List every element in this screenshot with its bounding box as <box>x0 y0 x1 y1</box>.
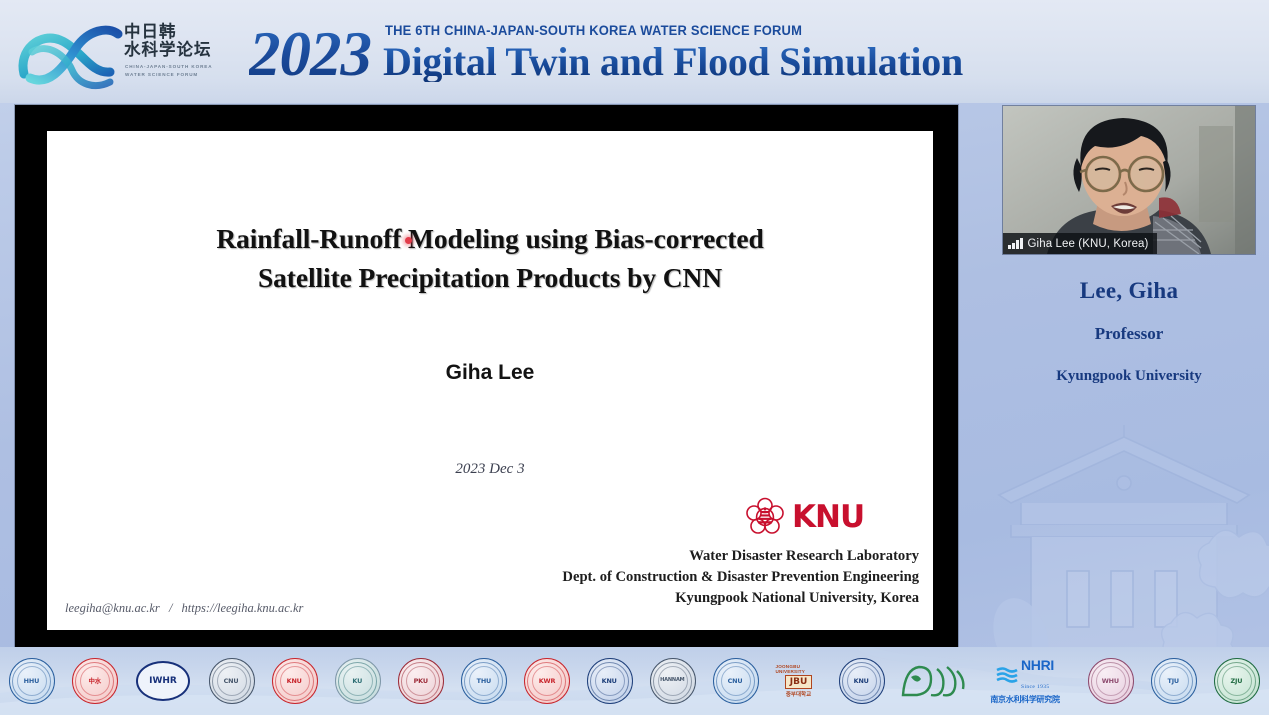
sponsor-logo[interactable]: CNU <box>200 647 263 715</box>
banner-title: Digital Twin and Flood Simulation <box>383 42 963 82</box>
sponsor-logo[interactable]: KNU <box>578 647 641 715</box>
nhri-chinese: 南京水利科学研究院 <box>990 694 1059 705</box>
slide-title: Rainfall-Runoff Modeling using Bias-corr… <box>47 219 933 297</box>
banner-year: 2023 <box>249 18 371 91</box>
video-name-label: Giha Lee (KNU, Korea) <box>1003 233 1157 254</box>
sponsor-logo[interactable]: ZJU <box>1205 647 1268 715</box>
sponsor-logo[interactable]: KNU <box>830 647 893 715</box>
nhri-text: NHRI <box>1021 657 1054 673</box>
green-river-logo-icon <box>897 661 967 701</box>
video-label-text: Giha Lee (KNU, Korea) <box>1028 238 1149 250</box>
knu-flower-emblem-icon <box>744 496 786 538</box>
contact-url: https://leegiha.knu.ac.kr <box>182 601 304 615</box>
sponsor-logo[interactable]: HANNAM <box>641 647 704 715</box>
sponsor-logo[interactable]: TJU <box>1142 647 1205 715</box>
sponsor-logo-jbu[interactable]: JOONGBU UNIVERSITY JBU 중부대학교 <box>767 647 830 715</box>
temple-watermark <box>959 375 1269 675</box>
slide-date: 2023 Dec 3 <box>47 461 933 478</box>
slide-author: Giha Lee <box>47 361 933 385</box>
nhri-since: Since 1935 <box>1021 684 1050 690</box>
forum-logo-english: CHINA-JAPAN-SOUTH KOREA WATER SCIENCE FO… <box>125 63 212 78</box>
sponsor-logo[interactable]: KU <box>326 647 389 715</box>
sponsor-logo-iwhr[interactable]: IWHR <box>126 647 200 715</box>
sponsor-logo[interactable]: CNU <box>704 647 767 715</box>
sponsor-logo[interactable]: HHU <box>0 647 63 715</box>
contact-separator: / <box>163 601 178 615</box>
sponsor-logo-strip: HHU 中水 IWHR CNU KNU KU PKU THU KWR KNU H… <box>0 647 1269 715</box>
slide-contact: leegiha@knu.ac.kr / https://leegiha.knu.… <box>65 601 303 616</box>
slide-affiliation: Water Disaster Research Laboratory Dept.… <box>562 546 919 609</box>
page-background: 中日韩 水科学论坛 CHINA-JAPAN-SOUTH KOREA WATER … <box>0 0 1269 715</box>
jbu-wordmark: JOONGBU UNIVERSITY JBU 중부대학교 <box>776 659 822 703</box>
sponsor-logo[interactable]: PKU <box>389 647 452 715</box>
knu-logo: KNU <box>744 496 879 538</box>
participant-video-tile[interactable]: Giha Lee (KNU, Korea) <box>1003 106 1255 254</box>
sponsor-logo[interactable]: KWR <box>515 647 578 715</box>
sponsor-row: HHU 中水 IWHR CNU KNU KU PKU THU KWR KNU H… <box>0 647 1269 715</box>
signal-bars-icon <box>1008 238 1023 249</box>
speaker-role: Professor <box>1003 324 1255 344</box>
banner-subtitle: THE 6TH CHINA-JAPAN-SOUTH KOREA WATER SC… <box>385 23 802 38</box>
sponsor-logo[interactable]: 中水 <box>63 647 126 715</box>
iwhr-wordmark: IWHR <box>136 661 190 701</box>
event-banner: 中日韩 水科学论坛 CHINA-JAPAN-SOUTH KOREA WATER … <box>0 0 1269 103</box>
nhri-wave-icon <box>996 667 1018 683</box>
sponsor-logo[interactable]: WHU <box>1079 647 1142 715</box>
laser-pointer-dot <box>405 237 412 244</box>
sponsor-logo[interactable]: KNU <box>263 647 326 715</box>
sponsor-logo-nhri[interactable]: NHRI Since 1935 南京水利科学研究院 <box>971 647 1079 715</box>
shared-screen[interactable]: Rainfall-Runoff Modeling using Bias-corr… <box>15 105 958 656</box>
knu-wordmark: KNU <box>792 502 864 533</box>
contact-email: leegiha@knu.ac.kr <box>65 601 160 615</box>
sponsor-logo-green[interactable] <box>893 647 971 715</box>
sponsor-logo[interactable]: THU <box>452 647 515 715</box>
speaker-organization: Kyungpook University <box>1003 368 1255 385</box>
video-feed: Giha Lee (KNU, Korea) <box>1003 106 1255 254</box>
speaker-name: Lee, Giha <box>1003 278 1255 304</box>
nhri-wordmark: NHRI Since 1935 南京水利科学研究院 <box>984 658 1066 704</box>
presentation-slide[interactable]: Rainfall-Runoff Modeling using Bias-corr… <box>47 131 933 630</box>
forum-logo-chinese: 中日韩 水科学论坛 <box>124 23 212 60</box>
